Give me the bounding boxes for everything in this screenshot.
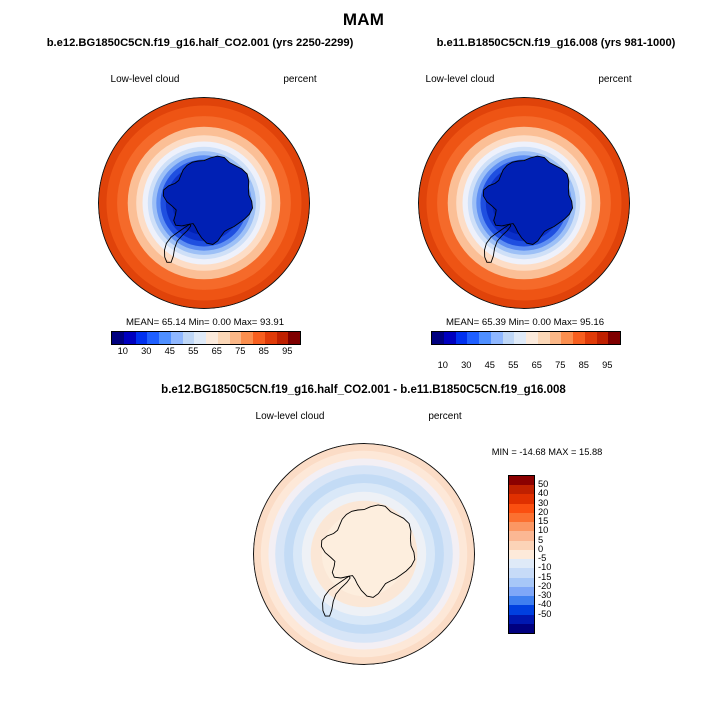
colorbar-swatch-7 — [514, 332, 526, 344]
difference-colorbar-tick-label: -50 — [538, 609, 551, 619]
difference-colorbar-swatch-4 — [509, 513, 534, 522]
colorbar-swatch-2 — [456, 332, 468, 344]
right-panel-title: b.e11.B1850C5CN.f19_g16.008 (yrs 981-100… — [385, 37, 727, 49]
colorbar-swatch-3 — [467, 332, 479, 344]
difference-colorbar-swatch-1 — [509, 485, 534, 494]
difference-colorbar-swatch-16 — [509, 624, 534, 633]
colorbar-swatch-0 — [432, 332, 444, 344]
colorbar-swatch-1 — [124, 332, 136, 344]
colorbar-swatch-8 — [526, 332, 538, 344]
colorbar-swatch-14 — [277, 332, 289, 344]
difference-colorbar-swatch-0 — [509, 476, 534, 485]
difference-units-label: percent — [385, 411, 505, 422]
left-units-label: percent — [240, 74, 360, 85]
right-statistics: MEAN= 65.39 Min= 0.00 Max= 95.16 — [410, 317, 640, 328]
colorbar-swatch-5 — [171, 332, 183, 344]
colorbar-tick-label: 55 — [188, 346, 198, 356]
colorbar-tick-label: 95 — [602, 360, 612, 370]
difference-colorbar-swatch-8 — [509, 550, 534, 559]
colorbar-swatch-10 — [550, 332, 562, 344]
difference-colorbar-swatch-12 — [509, 587, 534, 596]
colorbar-swatch-8 — [206, 332, 218, 344]
colorbar-tick-label: 65 — [212, 346, 222, 356]
colorbar-tick-label: 95 — [282, 346, 292, 356]
difference-statistics: MIN = -14.68 MAX = 15.88 — [462, 447, 632, 457]
left-colorbar — [111, 331, 301, 345]
colorbar-swatch-14 — [597, 332, 609, 344]
polar-map-right — [418, 97, 630, 309]
colorbar-tick-label: 45 — [485, 360, 495, 370]
difference-colorbar-swatch-6 — [509, 531, 534, 540]
difference-colorbar — [508, 475, 535, 634]
colorbar-tick-label: 45 — [165, 346, 175, 356]
difference-colorbar-labels: 50403020151050-5-10-15-20-30-40-50 — [538, 475, 578, 632]
page-title: MAM — [0, 10, 727, 30]
difference-colorbar-swatch-14 — [509, 605, 534, 614]
map-field-svg — [418, 97, 630, 309]
colorbar-swatch-9 — [538, 332, 550, 344]
colorbar-swatch-7 — [194, 332, 206, 344]
left-variable-label: Low-level cloud — [55, 74, 235, 85]
right-colorbar-ticks: 1030455565758595 — [431, 360, 619, 374]
colorbar-swatch-6 — [503, 332, 515, 344]
colorbar-tick-label: 30 — [461, 360, 471, 370]
right-units-label: percent — [555, 74, 675, 85]
colorbar-tick-label: 30 — [141, 346, 151, 356]
colorbar-swatch-6 — [183, 332, 195, 344]
colorbar-tick-label: 75 — [235, 346, 245, 356]
colorbar-swatch-9 — [218, 332, 230, 344]
left-statistics: MEAN= 65.14 Min= 0.00 Max= 93.91 — [90, 317, 320, 328]
difference-colorbar-swatch-2 — [509, 494, 534, 503]
colorbar-swatch-13 — [265, 332, 277, 344]
colorbar-swatch-1 — [444, 332, 456, 344]
left-colorbar-ticks: 1030455565758595 — [111, 346, 299, 360]
colorbar-swatch-11 — [561, 332, 573, 344]
colorbar-swatch-15 — [608, 332, 620, 344]
polar-map-left — [98, 97, 310, 309]
colorbar-tick-label: 85 — [259, 346, 269, 356]
difference-colorbar-swatch-9 — [509, 559, 534, 568]
colorbar-swatch-11 — [241, 332, 253, 344]
colorbar-swatch-4 — [159, 332, 171, 344]
colorbar-swatch-3 — [147, 332, 159, 344]
colorbar-swatch-10 — [230, 332, 242, 344]
colorbar-tick-label: 85 — [579, 360, 589, 370]
map-field-svg — [98, 97, 310, 309]
difference-colorbar-swatch-11 — [509, 578, 534, 587]
colorbar-swatch-2 — [136, 332, 148, 344]
right-colorbar — [431, 331, 621, 345]
right-variable-label: Low-level cloud — [370, 74, 550, 85]
colorbar-swatch-0 — [112, 332, 124, 344]
difference-colorbar-swatch-15 — [509, 615, 534, 624]
colorbar-tick-label: 55 — [508, 360, 518, 370]
left-panel-title: b.e12.BG1850C5CN.f19_g16.half_CO2.001 (y… — [0, 37, 400, 49]
colorbar-swatch-12 — [253, 332, 265, 344]
colorbar-tick-label: 75 — [555, 360, 565, 370]
difference-colorbar-swatch-10 — [509, 568, 534, 577]
difference-colorbar-swatch-7 — [509, 541, 534, 550]
difference-colorbar-swatch-13 — [509, 596, 534, 605]
colorbar-tick-label: 10 — [438, 360, 448, 370]
difference-colorbar-swatch-3 — [509, 504, 534, 513]
difference-colorbar-swatch-5 — [509, 522, 534, 531]
colorbar-tick-label: 65 — [532, 360, 542, 370]
colorbar-swatch-5 — [491, 332, 503, 344]
difference-panel-title: b.e12.BG1850C5CN.f19_g16.half_CO2.001 - … — [0, 384, 727, 396]
colorbar-swatch-15 — [288, 332, 300, 344]
polar-map-difference — [253, 443, 475, 665]
colorbar-swatch-13 — [585, 332, 597, 344]
colorbar-swatch-4 — [479, 332, 491, 344]
difference-variable-label: Low-level cloud — [200, 411, 380, 422]
colorbar-swatch-12 — [573, 332, 585, 344]
colorbar-tick-label: 10 — [118, 346, 128, 356]
map-field-svg — [253, 443, 475, 665]
